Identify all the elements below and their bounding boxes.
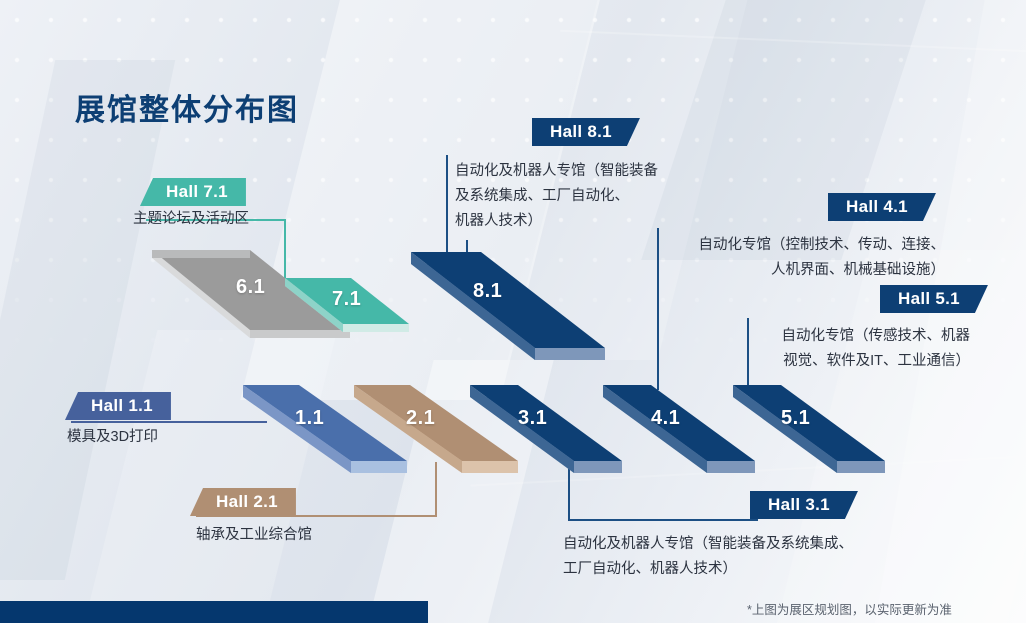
hall-tag-5-1[interactable]: Hall 5.1	[880, 285, 988, 313]
hall-desc-4-1: 自动化专馆（控制技术、传动、连接、 人机界面、机械基础设施）	[520, 233, 945, 283]
hall-block-7-1[interactable]: 7.1	[285, 278, 411, 350]
bottom-accent-bar	[0, 601, 428, 623]
hall-tag-4-1[interactable]: Hall 4.1	[828, 193, 936, 221]
hall-block-5-1-shape	[733, 385, 887, 481]
hall-block-3-1-shape	[470, 385, 624, 481]
hall-desc-3-1: 自动化及机器人专馆（智能装备及系统集成、 工厂自动化、机器人技术）	[563, 532, 853, 582]
hall-block-7-1-shape	[285, 278, 411, 350]
hall-desc-1-1: 模具及3D打印	[67, 425, 158, 450]
hall-tag-2-1[interactable]: Hall 2.1	[190, 488, 296, 516]
hall-block-3-1[interactable]: 3.1	[470, 385, 624, 481]
hall-tag-3-1[interactable]: Hall 3.1	[750, 491, 858, 519]
footnote: *上图为展区规划图，以实际更新为准	[747, 599, 952, 618]
exhibition-floorplan-canvas: 展馆整体分布图 6.1	[0, 0, 1026, 623]
hall-tag-7-1[interactable]: Hall 7.1	[140, 178, 246, 206]
hall-desc-7-1: 主题论坛及活动区	[133, 207, 249, 232]
hall-block-5-1[interactable]: 5.1	[733, 385, 887, 481]
hall-desc-5-1: 自动化专馆（传感技术、机器 视觉、软件及IT、工业通信）	[600, 324, 970, 374]
hall-desc-2-1: 轴承及工业综合馆	[196, 523, 312, 548]
page-title: 展馆整体分布图	[75, 85, 299, 129]
hall-tag-8-1[interactable]: Hall 8.1	[532, 118, 640, 146]
hall-tag-1-1[interactable]: Hall 1.1	[65, 392, 171, 420]
hall-desc-8-1: 自动化及机器人专馆（智能装备 及系统集成、工厂自动化、 机器人技术）	[455, 159, 658, 234]
